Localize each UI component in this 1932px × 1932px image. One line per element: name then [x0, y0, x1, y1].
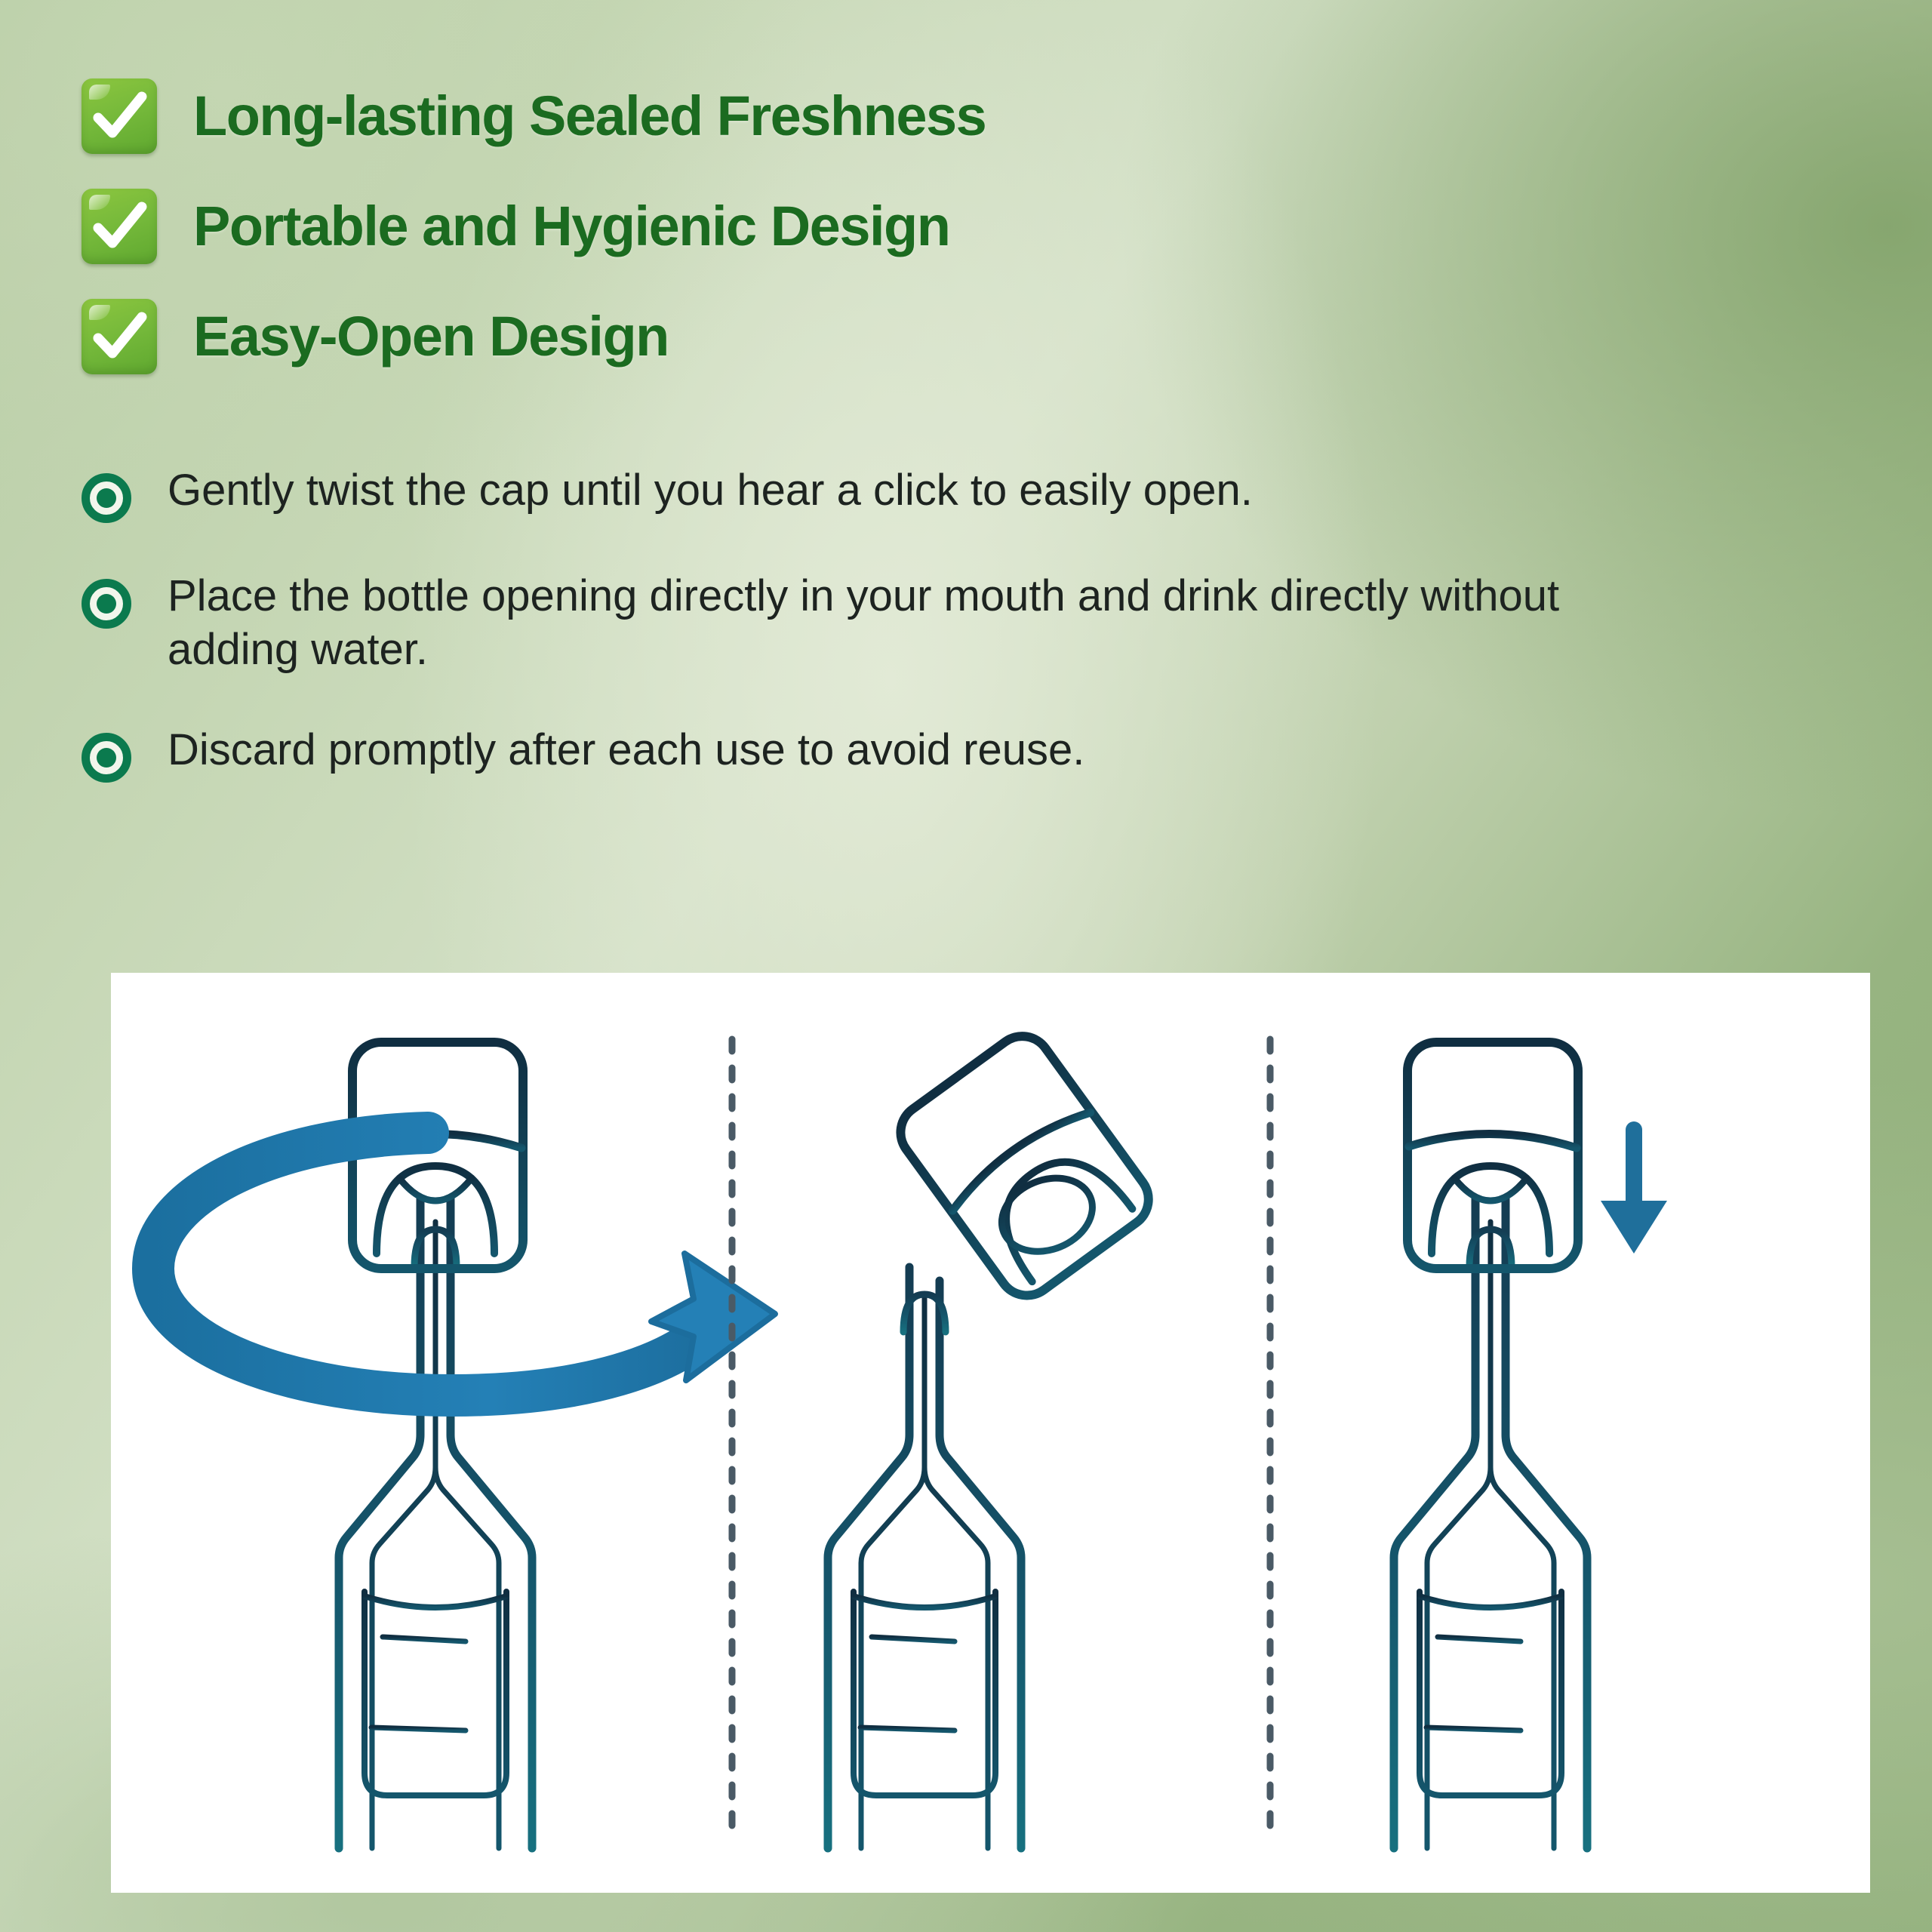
instruction-list: Gently twist the cap until you hear a cl… [82, 464, 1742, 829]
instruction-text: Discard promptly after each use to avoid… [168, 724, 1084, 777]
check-square-icon [82, 189, 157, 264]
feature-item: Portable and Hygienic Design [82, 189, 1364, 264]
panel-twist-cap [153, 1042, 775, 1848]
tilted-cap-icon [889, 1025, 1159, 1306]
feature-checklist: Long-lasting Sealed Freshness Portable a… [82, 78, 1364, 409]
feature-label: Long-lasting Sealed Freshness [193, 88, 986, 144]
radio-dot-icon [82, 473, 131, 523]
feature-label: Portable and Hygienic Design [193, 198, 949, 254]
instruction-item: Discard promptly after each use to avoid… [82, 724, 1742, 783]
radio-dot-icon [82, 579, 131, 629]
product-feature-page: Long-lasting Sealed Freshness Portable a… [0, 0, 1932, 1932]
usage-illustration-card [111, 973, 1870, 1893]
check-square-icon [82, 299, 157, 374]
instruction-text: Place the bottle opening directly in you… [168, 570, 1601, 677]
check-square-icon [82, 78, 157, 154]
instruction-item: Place the bottle opening directly in you… [82, 570, 1742, 677]
panel-remove-cap [828, 1025, 1160, 1848]
feature-label: Easy-Open Design [193, 309, 669, 365]
feature-item: Long-lasting Sealed Freshness [82, 78, 1364, 154]
panel-replace-cap [1394, 1042, 1667, 1848]
down-arrow-icon [1601, 1130, 1667, 1254]
instruction-item: Gently twist the cap until you hear a cl… [82, 464, 1742, 523]
radio-dot-icon [82, 733, 131, 783]
instruction-text: Gently twist the cap until you hear a cl… [168, 464, 1253, 518]
feature-item: Easy-Open Design [82, 299, 1364, 374]
